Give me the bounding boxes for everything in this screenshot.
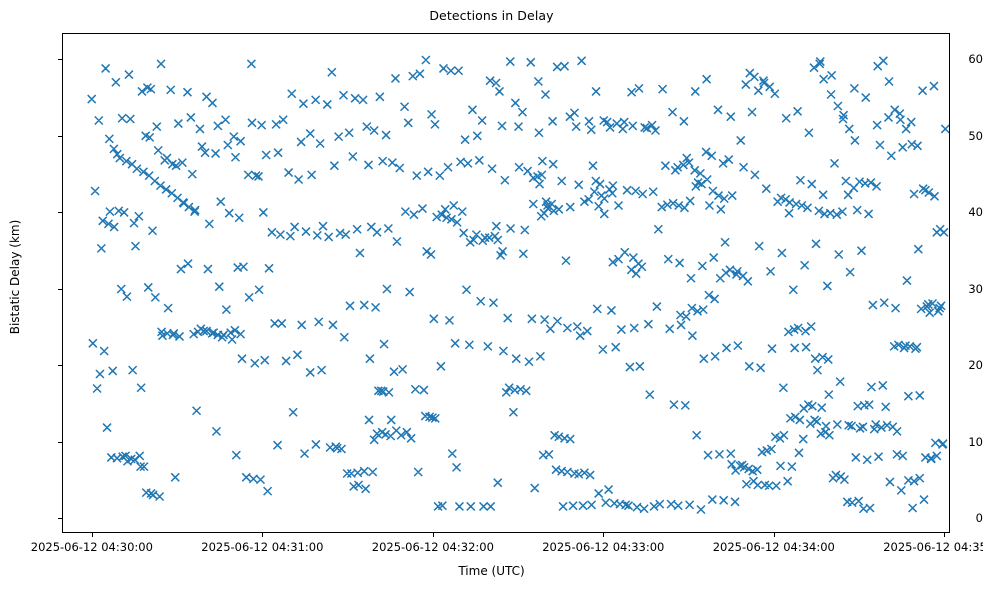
x-axis-label: Time (UTC) bbox=[0, 564, 983, 578]
plot-area bbox=[62, 33, 950, 533]
x-tick-mark bbox=[774, 533, 775, 537]
scatter-markers bbox=[88, 56, 950, 513]
x-tick-mark bbox=[944, 533, 945, 537]
x-tick-mark bbox=[603, 533, 604, 537]
y-axis-label: Bistatic Delay (km) bbox=[8, 27, 22, 527]
x-tick-mark bbox=[262, 533, 263, 537]
x-tick-label: 2025-06-12 04:35:00 bbox=[844, 540, 983, 554]
scatter-series bbox=[63, 34, 950, 533]
x-tick-mark bbox=[92, 533, 93, 537]
page-title: Detections in Delay bbox=[0, 8, 983, 23]
x-tick-mark bbox=[433, 533, 434, 537]
matplotlib-figure: Detections in Delay Bistatic Delay (km) … bbox=[0, 0, 983, 590]
